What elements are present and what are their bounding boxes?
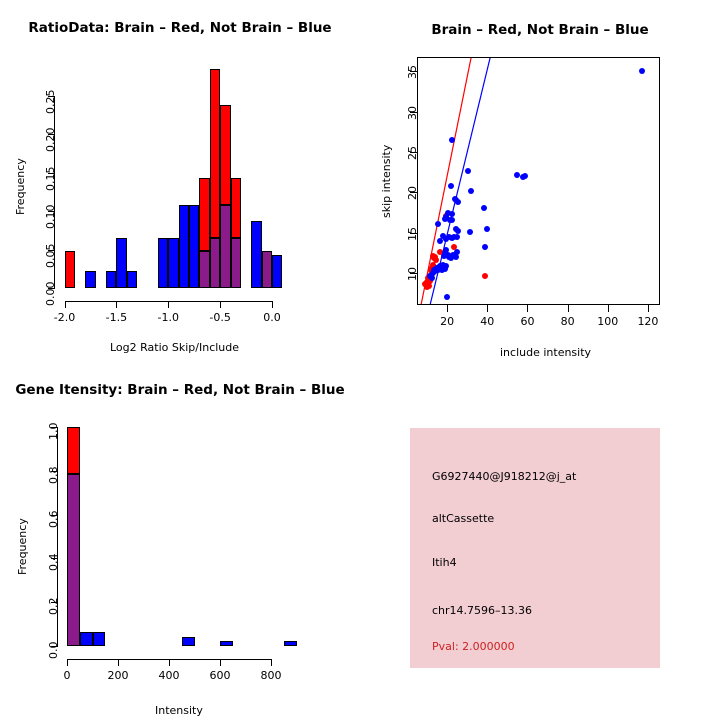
ratio-histogram-bar-overlap bbox=[231, 238, 241, 288]
ratio-histogram-xtick bbox=[220, 301, 221, 308]
gene-histogram-yticklabel: 0.6 bbox=[47, 510, 60, 528]
ratio-histogram-bar-not-brain bbox=[106, 271, 116, 288]
info-probe-id: G6927440@J918212@j_at bbox=[432, 470, 576, 483]
gene-histogram-bar-not-brain bbox=[220, 641, 233, 646]
ratio-histogram-xticklabel: 0.0 bbox=[258, 311, 286, 324]
gene-histogram-xticklabel: 600 bbox=[206, 669, 234, 682]
ratio-histogram-bar-not-brain bbox=[179, 205, 189, 288]
scatter-point-not-brain bbox=[454, 249, 460, 255]
info-pvalue: Pval: 2.000000 bbox=[432, 640, 515, 653]
scatter-point-not-brain bbox=[449, 217, 455, 223]
gene-histogram-xtick bbox=[271, 659, 272, 666]
panel-intensity-scatter: Brain – Red, Not Brain – Blue skip inten… bbox=[360, 0, 720, 360]
ratio-histogram-bar-brain bbox=[199, 178, 209, 251]
ratio-histogram-bar-not-brain bbox=[158, 238, 168, 288]
ratio-histogram-yticklabel: 0.05 bbox=[44, 243, 57, 268]
ratio-histogram-bar-not-brain bbox=[189, 205, 199, 288]
ratio-histogram-bar-overlap bbox=[220, 205, 230, 288]
gene-histogram-bar-overlap bbox=[67, 474, 80, 646]
ratio-histogram-xtick bbox=[272, 301, 273, 308]
gene-histogram-xtick bbox=[118, 659, 119, 666]
ratio-histogram-xtick bbox=[65, 301, 66, 308]
gene-histogram-plot-area: 0.00.20.40.60.81.00200400600800 bbox=[0, 360, 360, 720]
ratio-histogram-bar-overlap bbox=[199, 251, 209, 288]
ratio-histogram-bar-brain bbox=[210, 69, 220, 238]
ratio-histogram-yticklabel: 0.10 bbox=[44, 205, 57, 230]
gene-histogram-xticklabel: 400 bbox=[155, 669, 183, 682]
ratio-histogram-bar-brain bbox=[220, 105, 230, 204]
gene-histogram-bar-not-brain bbox=[182, 637, 195, 646]
scatter-point-not-brain bbox=[639, 68, 645, 74]
ratio-histogram-xtick bbox=[168, 301, 169, 308]
ratio-histogram-yticklabel: 0.20 bbox=[44, 128, 57, 153]
scatter-point-not-brain bbox=[443, 263, 449, 269]
gene-histogram-bar-not-brain bbox=[80, 632, 93, 646]
ratio-histogram-bar-not-brain bbox=[116, 238, 126, 288]
gene-histogram-xtick bbox=[67, 659, 68, 666]
ratio-histogram-xticklabel: -1.0 bbox=[154, 311, 182, 324]
scatter-point-not-brain bbox=[448, 183, 454, 189]
gene-histogram-yticklabel: 1.0 bbox=[47, 423, 60, 441]
scatter-point-not-brain bbox=[449, 137, 455, 143]
panel-gene-info: G6927440@J918212@j_ataltCassetteItih4chr… bbox=[410, 428, 660, 668]
gene-histogram-xticklabel: 0 bbox=[53, 669, 81, 682]
ratio-histogram-yticklabel: 0.15 bbox=[44, 166, 57, 191]
ratio-histogram-bar-overlap bbox=[262, 251, 272, 288]
ratio-histogram-xticklabel: -1.5 bbox=[102, 311, 130, 324]
panel-gene-intensity-histogram: Gene Itensity: Brain – Red, Not Brain – … bbox=[0, 360, 360, 720]
ratio-histogram-bar-not-brain bbox=[168, 238, 178, 288]
gene-histogram-yticklabel: 0.2 bbox=[47, 598, 60, 616]
ratio-histogram-plot-area: 0.000.050.100.150.200.25-2.0-1.5-1.0-0.5… bbox=[0, 0, 360, 360]
ratio-histogram-bar-not-brain bbox=[127, 271, 137, 288]
info-gene-symbol: Itih4 bbox=[432, 556, 457, 569]
ratio-histogram-yticklabel: 0.00 bbox=[44, 282, 57, 307]
gene-histogram-xticklabel: 800 bbox=[257, 669, 285, 682]
info-chromosome-coords: chr14.7596–13.36 bbox=[432, 604, 532, 617]
scatter-point-brain bbox=[482, 273, 488, 279]
scatter-point-not-brain bbox=[455, 199, 461, 205]
scatter-point-not-brain bbox=[484, 226, 490, 232]
ratio-histogram-bar-overlap bbox=[210, 238, 220, 288]
ratio-histogram-bar-not-brain bbox=[251, 221, 261, 288]
scatter-plot-area: 10152025303520406080100120 bbox=[360, 0, 720, 360]
gene-histogram-xticklabel: 200 bbox=[104, 669, 132, 682]
gene-histogram-bar-not-brain bbox=[284, 641, 297, 646]
ratio-histogram-bar-not-brain bbox=[85, 271, 95, 288]
scatter-point-not-brain bbox=[465, 168, 471, 174]
gene-histogram-yticklabel: 0.8 bbox=[47, 466, 60, 484]
ratio-histogram-yticklabel: 0.25 bbox=[44, 90, 57, 115]
gene-histogram-bar-not-brain bbox=[93, 632, 106, 646]
gene-histogram-yticklabel: 0.4 bbox=[47, 554, 60, 572]
scatter-point-brain bbox=[433, 257, 439, 263]
ratio-histogram-bar-not-brain bbox=[272, 255, 282, 288]
panel-ratio-histogram: RatioData: Brain – Red, Not Brain – Blue… bbox=[0, 0, 360, 360]
ratio-histogram-xticklabel: -2.0 bbox=[51, 311, 79, 324]
gene-histogram-xtick bbox=[220, 659, 221, 666]
gene-histogram-yticklabel: 0.0 bbox=[47, 642, 60, 660]
info-event-type: altCassette bbox=[432, 512, 494, 525]
gene-histogram-xtick bbox=[169, 659, 170, 666]
scatter-fit-lines bbox=[360, 0, 720, 360]
ratio-histogram-xtick bbox=[116, 301, 117, 308]
gene-histogram-bar-brain bbox=[67, 427, 80, 474]
ratio-histogram-bar-brain bbox=[231, 178, 241, 238]
scatter-point-not-brain bbox=[444, 294, 450, 300]
ratio-histogram-xticklabel: -0.5 bbox=[206, 311, 234, 324]
ratio-histogram-bar-brain bbox=[65, 251, 75, 288]
